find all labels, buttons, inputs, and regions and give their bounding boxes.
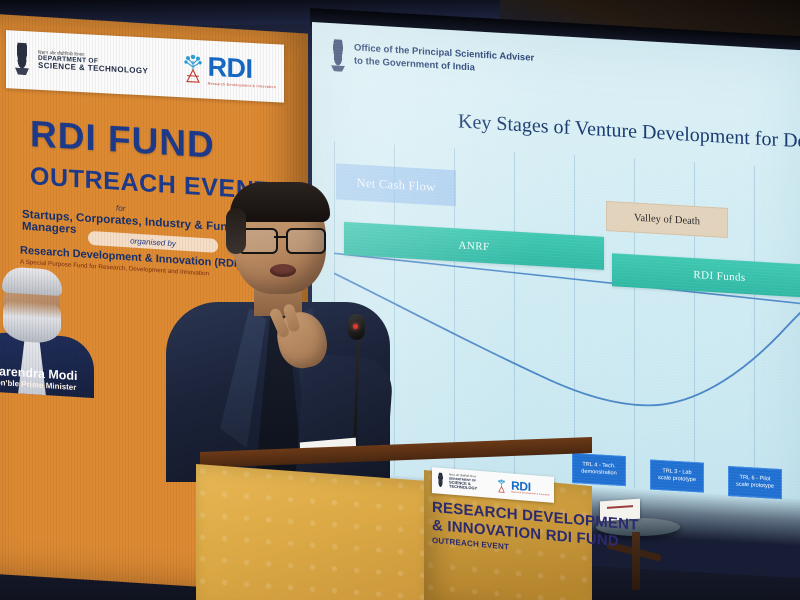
state-emblem-of-india-icon	[328, 39, 348, 74]
podium-front-panel	[196, 464, 428, 600]
rdi-tree-icon	[181, 53, 205, 84]
banner-for-label: for	[116, 204, 125, 214]
banner-title: RDI FUND	[30, 116, 286, 168]
speaker-mouth	[270, 264, 296, 277]
dst-logo-text: विज्ञान और प्रौद्योगिकी विभाग DEPARTMENT…	[38, 51, 175, 78]
lens-right	[286, 228, 326, 254]
podium-rdi-wordmark: RDI Research Development & Innovation	[511, 479, 550, 496]
rdi-tree-icon	[496, 478, 507, 494]
speaker-sideburn	[226, 208, 246, 254]
portrait-hair	[2, 266, 62, 296]
trl-box: TRL 3 - Labscale prototype	[650, 459, 704, 492]
rdi-wordmark: RDI	[208, 54, 276, 85]
portrait-name: Narendra Modi	[0, 364, 170, 389]
portrait-head	[4, 271, 60, 337]
portrait-vest	[10, 335, 54, 398]
rdi-tagline: Research Development & Innovation	[208, 82, 276, 90]
dst-hindi-label: विज्ञान और प्रौद्योगिकी विभाग	[38, 51, 175, 63]
glasses-bridge	[274, 236, 286, 238]
portrait-body	[0, 331, 94, 399]
podium: विज्ञान और प्रौद्योगिकी विभाग DEPARTMENT…	[196, 452, 596, 600]
state-emblem-of-india-icon	[436, 472, 445, 489]
podium-rdi-tagline: Research Development & Innovation	[511, 491, 550, 496]
banner-logo-strip: विज्ञान और प्रौद्योगिकी विभाग DEPARTMENT…	[6, 30, 284, 103]
dst-line-2: SCIENCE & TECHNOLOGY	[38, 62, 175, 78]
podium-dst-logo-text: विज्ञान और प्रौद्योगिकी विभाग DEPARTMENT…	[449, 474, 492, 492]
rdi-logo: RDI Research Development & Innovation	[181, 52, 278, 89]
dst-line-1: DEPARTMENT OF	[38, 55, 175, 69]
eyeglasses-icon	[238, 228, 326, 250]
state-emblem-of-india-icon	[12, 42, 32, 77]
microphone-led-indicator	[353, 324, 358, 329]
prime-minister-portrait	[0, 262, 102, 398]
portrait-beard	[3, 300, 61, 344]
portrait-role: Hon'ble Prime Minister	[0, 378, 170, 398]
conference-photo: Office of the Principal Scientific Advis…	[0, 0, 800, 600]
office-of-psa-label: Office of the Principal Scientific Advis…	[354, 42, 654, 85]
